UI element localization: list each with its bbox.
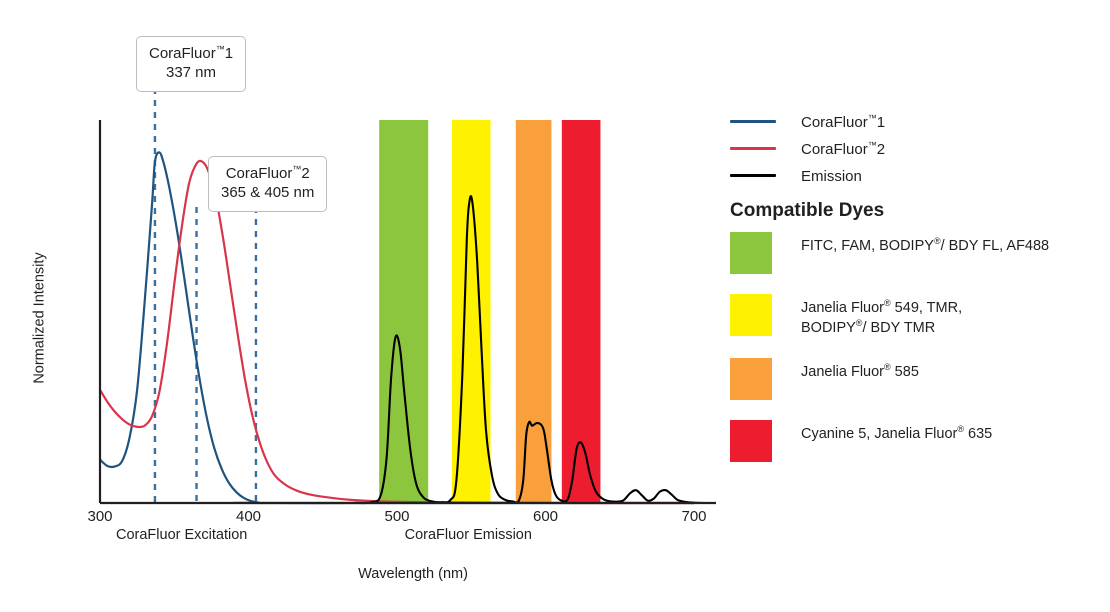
dye-item-2[interactable]: Janelia Fluor® 585 [730,358,1110,400]
legend-item-2[interactable]: Emission [730,162,1110,189]
x-axis-sublabel-0: CoraFluor Excitation [116,527,247,543]
registered-icon: ® [884,298,891,308]
chart-page: 300400500600700 CoraFluor ExcitationCora… [0,0,1110,612]
x-tick-300: 300 [87,508,112,525]
callout-line1: CoraFluor™1 [149,45,233,62]
callout-line1: CoraFluor™2 [226,165,310,182]
x-axis-title: Wavelength (nm) [358,566,468,582]
dye-color-swatch [730,294,772,336]
plot-area: 300400500600700 CoraFluor ExcitationCora… [0,0,730,612]
corafluor1-callout: CoraFluor™1 337 nm [136,36,246,92]
corafluor2-callout: CoraFluor™2 365 & 405 nm [208,156,327,212]
registered-icon: ® [934,236,941,246]
x-tick-600: 600 [533,508,558,525]
y-axis-title: Normalized Intensity [32,252,48,383]
x-axis-sublabel-1: CoraFluor Emission [405,527,532,543]
dye-item-label: Janelia Fluor® 549, TMR,BODIPY®/ BDY TMR [801,294,962,338]
dye-line-1: Janelia Fluor® 585 [801,364,919,380]
legend-item-label: CoraFluor™1 [801,113,885,131]
dye-line-1: Cyanine 5, Janelia Fluor® 635 [801,426,992,442]
dye-item-label: Janelia Fluor® 585 [801,358,919,382]
dye-item-1[interactable]: Janelia Fluor® 549, TMR,BODIPY®/ BDY TMR [730,294,1110,338]
x-tick-500: 500 [384,508,409,525]
right-panel: CoraFluor™1CoraFluor™2Emission Compatibl… [730,0,1110,612]
dye-item-0[interactable]: FITC, FAM, BODIPY®/ BDY FL, AF488 [730,232,1110,274]
dye-color-swatch [730,420,772,462]
legend-item-0[interactable]: CoraFluor™1 [730,108,1110,135]
legend-item-1[interactable]: CoraFluor™2 [730,135,1110,162]
legend-item-label: Emission [801,167,862,185]
dye-item-3[interactable]: Cyanine 5, Janelia Fluor® 635 [730,420,1110,462]
x-tick-700: 700 [681,508,706,525]
trademark-icon: ™ [216,44,225,54]
trademark-icon: ™ [868,113,877,123]
dye-color-swatch [730,232,772,274]
compatible-dyes-heading: Compatible Dyes [730,200,884,222]
callout-line2: 337 nm [149,64,233,83]
callout-line2: 365 & 405 nm [221,184,314,203]
legend-line-swatch [730,174,776,177]
red-band [562,120,601,503]
trademark-icon: ™ [868,140,877,150]
yellow-band [452,120,491,503]
registered-icon: ® [884,362,891,372]
dye-color-swatch [730,358,772,400]
dye-item-label: Cyanine 5, Janelia Fluor® 635 [801,420,992,444]
dye-line-2: BODIPY®/ BDY TMR [801,318,962,338]
curve-legend: CoraFluor™1CoraFluor™2Emission [730,108,1110,189]
legend-line-swatch [730,120,776,123]
x-tick-400: 400 [236,508,261,525]
legend-line-swatch [730,147,776,150]
dye-line-1: FITC, FAM, BODIPY®/ BDY FL, AF488 [801,238,1049,254]
dye-line-1: Janelia Fluor® 549, TMR, [801,300,962,316]
compatible-dyes-list: FITC, FAM, BODIPY®/ BDY FL, AF488Janelia… [730,232,1110,482]
dye-item-label: FITC, FAM, BODIPY®/ BDY FL, AF488 [801,232,1049,256]
legend-item-label: CoraFluor™2 [801,140,885,158]
